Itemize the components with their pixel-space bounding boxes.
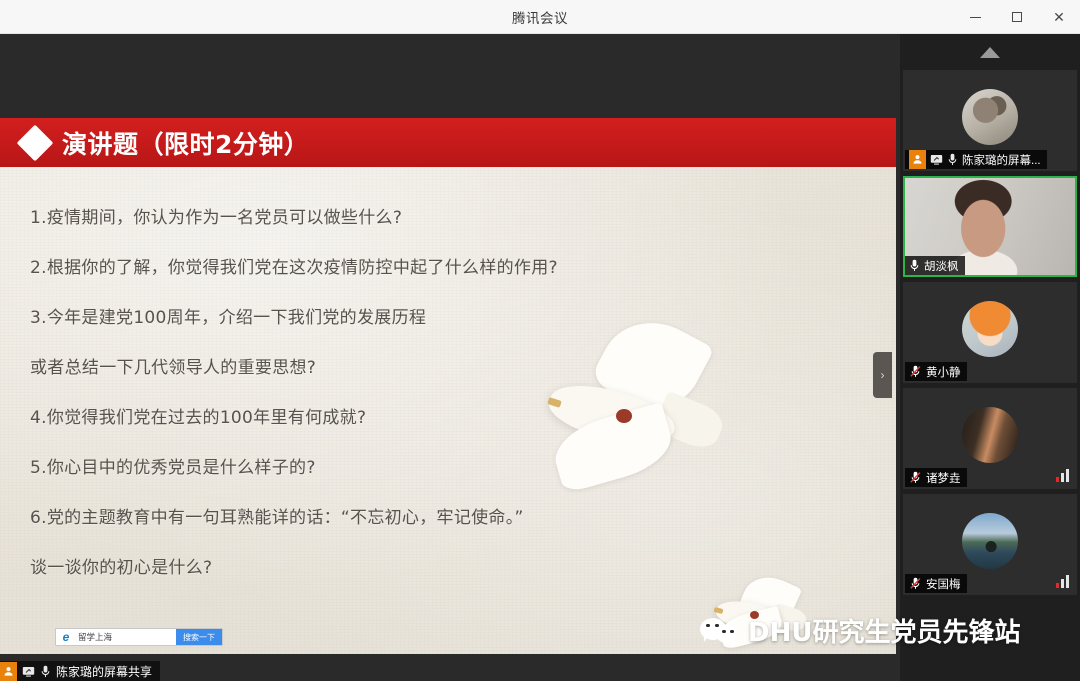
chevron-right-icon: › — [881, 368, 885, 382]
participant-name: 胡淡枫 — [924, 258, 959, 274]
avatar — [962, 513, 1018, 569]
microphone-muted-icon — [909, 471, 922, 484]
window-title: 腾讯会议 — [512, 7, 568, 27]
mini-search-query: 留学上海 — [74, 631, 176, 643]
internet-explorer-icon: e — [58, 629, 74, 645]
network-signal-icon — [1056, 575, 1069, 588]
shared-screen-stage: 演讲题（限时2分钟） — [0, 34, 900, 681]
host-badge-icon — [0, 662, 17, 681]
mini-search-button[interactable]: 搜索一下 — [176, 629, 222, 645]
tencent-meeting-window: 腾讯会议 ✕ 演讲题（限时2分钟） — [0, 0, 1080, 681]
participant-tile[interactable]: 安国梅 — [903, 494, 1077, 595]
slide-question-list: 1.疫情期间，你认为作为一名党员可以做些什么? 2.根据你的了解，你觉得我们党在… — [0, 167, 896, 654]
slide-question-line: 3.今年是建党100周年，介绍一下我们党的发展历程 — [30, 307, 866, 330]
participant-name-chip: 诸梦垚 — [905, 468, 967, 487]
maximize-button[interactable] — [996, 0, 1038, 34]
close-icon: ✕ — [1053, 10, 1065, 24]
title-bar: 腾讯会议 ✕ — [0, 0, 1080, 34]
slide-question-line: 1.疫情期间，你认为作为一名党员可以做些什么? — [30, 207, 866, 230]
screen-share-icon — [22, 665, 35, 678]
participant-name: 黄小静 — [926, 364, 961, 380]
triangle-up-icon — [980, 47, 1000, 58]
participant-tile[interactable]: 诸梦垚 — [903, 388, 1077, 489]
slide-question-line: 或者总结一下几代领导人的重要思想? — [30, 357, 866, 380]
participant-tile[interactable]: 黄小静 — [903, 282, 1077, 383]
participant-name: 诸梦垚 — [926, 470, 961, 486]
avatar — [962, 407, 1018, 463]
participant-name: 陈家璐的屏幕... — [962, 152, 1041, 168]
participant-tile[interactable]: 陈家璐的屏幕... — [903, 70, 1077, 171]
network-signal-icon — [1056, 469, 1069, 482]
minimize-button[interactable] — [954, 0, 996, 34]
presenter-name-bottom: 陈家璐的屏幕共享 — [56, 663, 152, 680]
slide-banner: 演讲题（限时2分钟） — [0, 118, 896, 167]
diamond-bullet-icon — [17, 124, 54, 161]
slide-title: 演讲题（限时2分钟） — [62, 125, 309, 161]
slide-question-line: 2.根据你的了解，你觉得我们党在这次疫情防控中起了什么样的作用? — [30, 257, 866, 280]
participant-name-chip: 黄小静 — [905, 362, 967, 381]
avatar — [962, 301, 1018, 357]
mini-search-bar[interactable]: e 留学上海 搜索一下 — [55, 628, 223, 646]
microphone-muted-icon — [909, 365, 922, 378]
slide-question-line: 5.你心目中的优秀党员是什么样子的? — [30, 457, 866, 480]
slide-question-line: 谈一谈你的初心是什么? — [30, 557, 866, 580]
participant-name-chip: 陈家璐的屏幕... — [905, 150, 1047, 169]
participant-name-chip: 胡淡枫 — [905, 256, 965, 275]
shared-screen-content: 演讲题（限时2分钟） — [0, 34, 896, 681]
microphone-icon — [947, 153, 958, 166]
window-controls: ✕ — [954, 0, 1080, 34]
presentation-slide: 演讲题（限时2分钟） — [0, 118, 896, 654]
rail-scroll-up-button[interactable] — [900, 34, 1080, 70]
minimize-icon — [970, 17, 981, 18]
microphone-icon — [909, 259, 920, 272]
screen-share-icon — [930, 153, 943, 166]
participant-rail: 陈家璐的屏幕... 胡淡枫 — [900, 34, 1080, 681]
avatar — [962, 89, 1018, 145]
maximize-icon — [1012, 12, 1022, 22]
microphone-icon — [40, 665, 51, 678]
close-button[interactable]: ✕ — [1038, 0, 1080, 34]
presenter-label-bottom: 陈家璐的屏幕共享 — [0, 661, 160, 681]
slide-question-line: 4.你觉得我们党在过去的100年里有何成就? — [30, 407, 866, 430]
participant-name: 安国梅 — [926, 576, 961, 592]
host-badge-icon — [909, 150, 926, 169]
slide-question-line: 6.党的主题教育中有一句耳熟能详的话：“不忘初心，牢记使命。” — [30, 507, 866, 530]
participant-name-chip: 安国梅 — [905, 574, 967, 593]
participant-tile[interactable]: 胡淡枫 — [903, 176, 1077, 277]
microphone-muted-icon — [909, 577, 922, 590]
collapse-panel-button[interactable]: › — [873, 352, 892, 398]
